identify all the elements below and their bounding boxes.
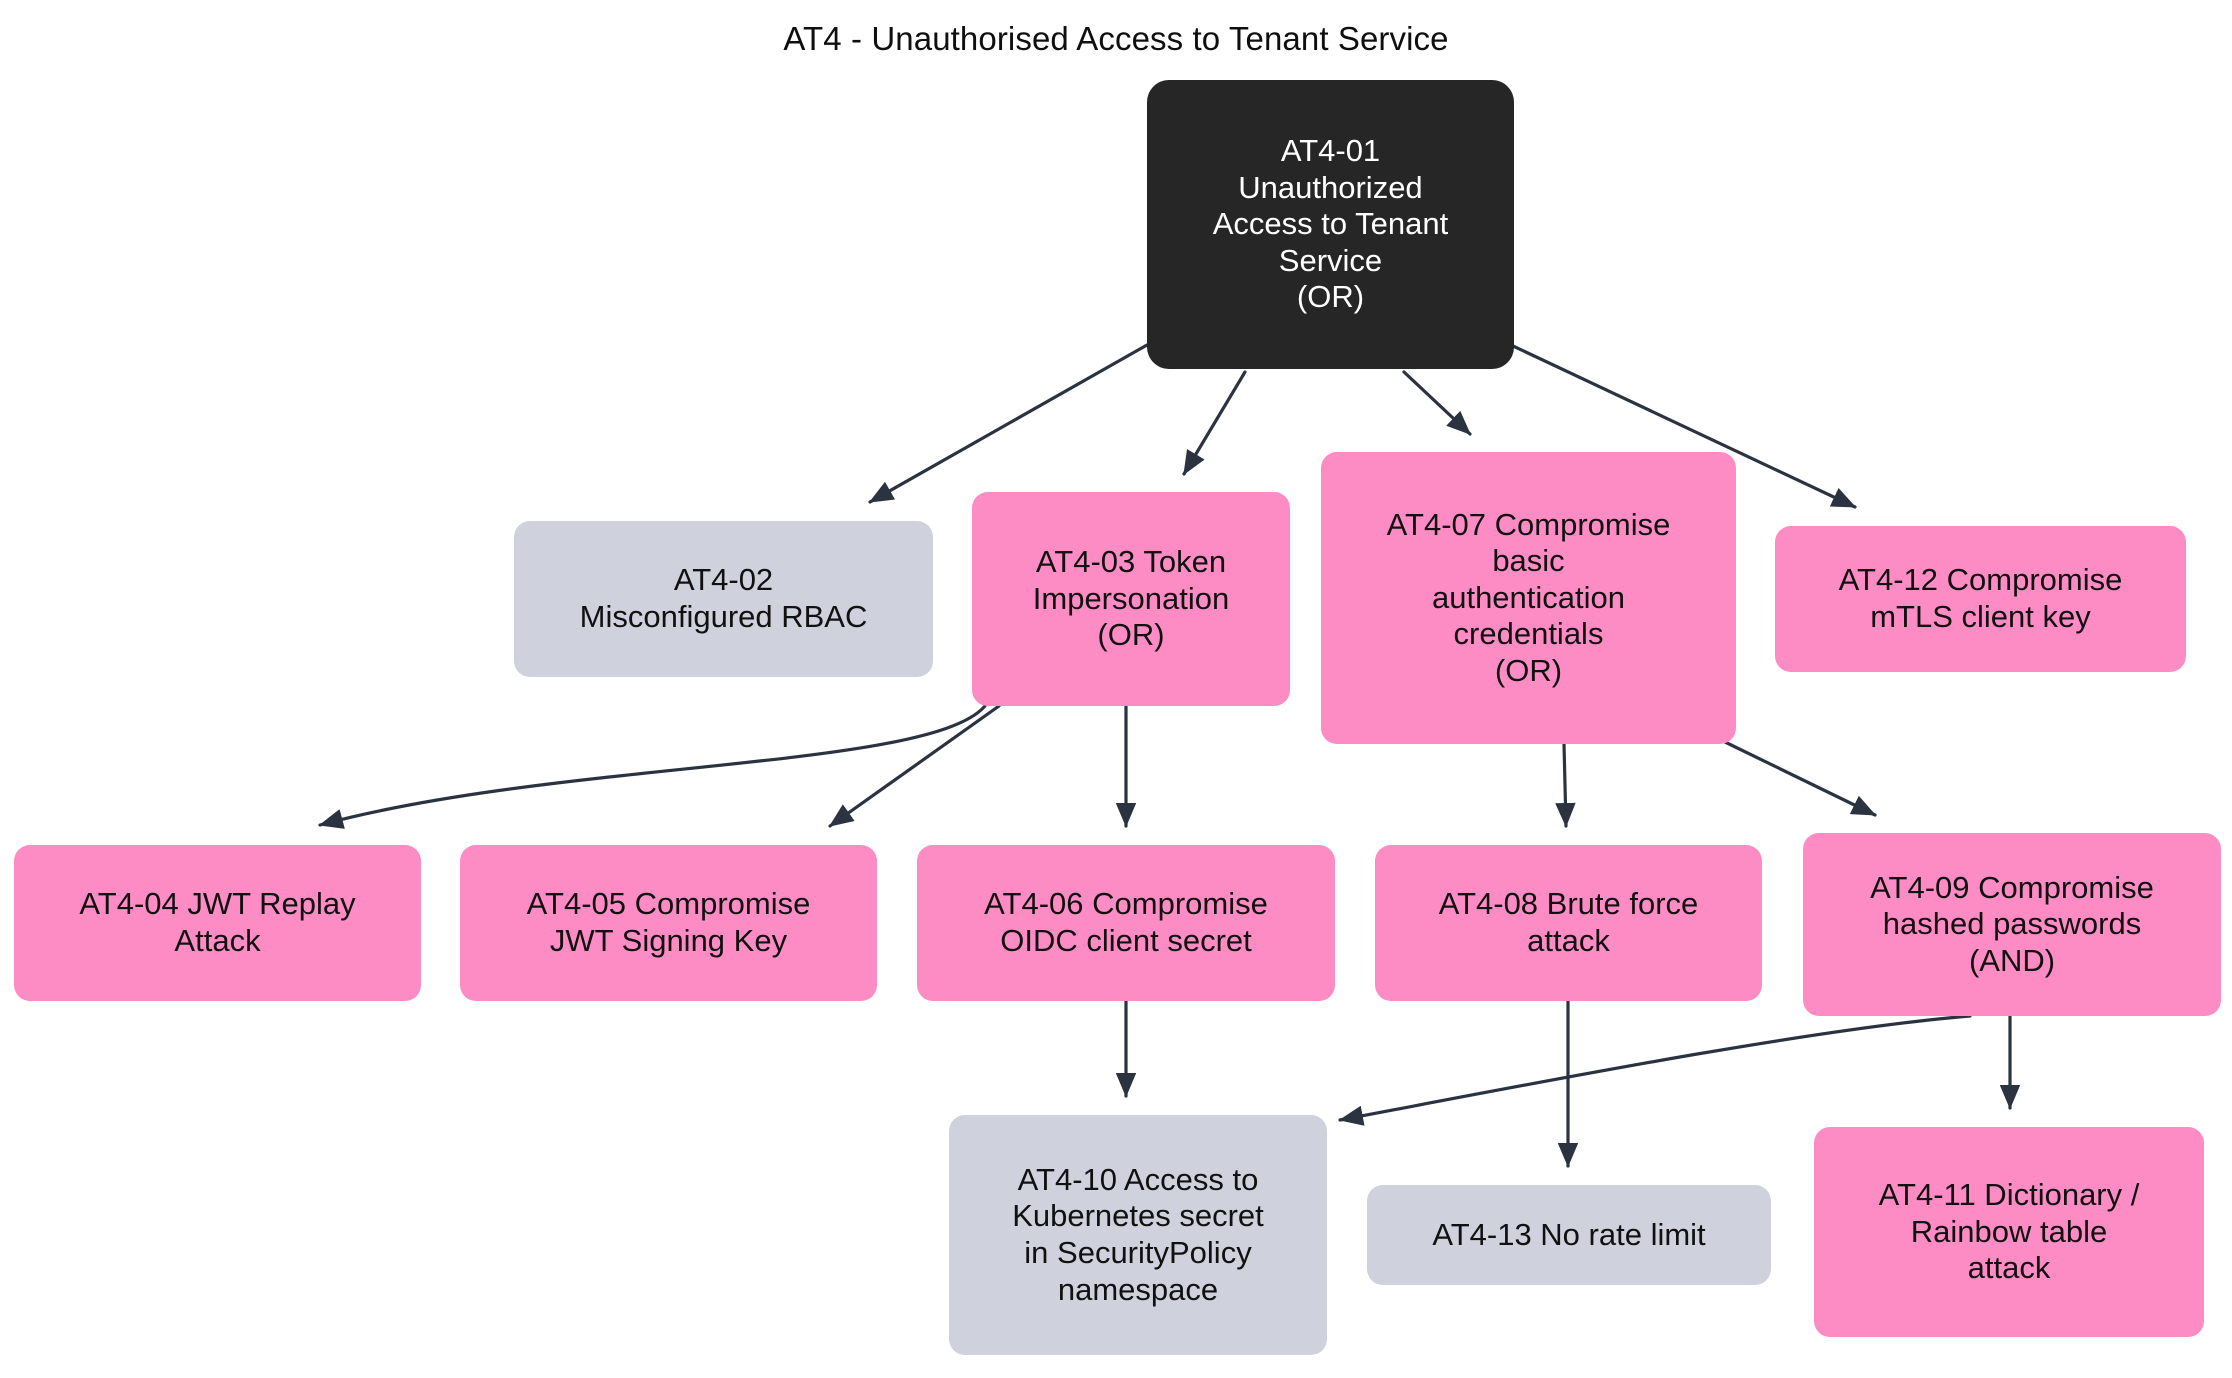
attack-tree-diagram: AT4 - Unauthorised Access to Tenant Serv… (0, 0, 2232, 1378)
edge-at4-03-to-at4-05 (830, 706, 999, 826)
node-at4-13[interactable]: AT4-13 No rate limit (1367, 1185, 1771, 1285)
diagram-title: AT4 - Unauthorised Access to Tenant Serv… (0, 20, 2232, 58)
node-at4-12[interactable]: AT4-12 Compromise mTLS client key (1775, 526, 2186, 672)
edge-at4-09-to-at4-10 (1340, 1016, 1970, 1120)
edge-at4-07-to-at4-08 (1564, 744, 1566, 826)
edge-at4-03-to-at4-04 (320, 706, 985, 825)
edge-at4-01-to-at4-03 (1184, 372, 1245, 474)
node-at4-02[interactable]: AT4-02 Misconfigured RBAC (514, 521, 933, 677)
node-at4-03[interactable]: AT4-03 Token Impersonation (OR) (972, 492, 1290, 706)
node-at4-09[interactable]: AT4-09 Compromise hashed passwords (AND) (1803, 833, 2221, 1016)
node-at4-11[interactable]: AT4-11 Dictionary / Rainbow table attack (1814, 1127, 2204, 1337)
node-at4-06[interactable]: AT4-06 Compromise OIDC client secret (917, 845, 1335, 1001)
node-at4-01[interactable]: AT4-01 Unauthorized Access to Tenant Ser… (1147, 80, 1514, 369)
node-at4-10[interactable]: AT4-10 Access to Kubernetes secret in Se… (949, 1115, 1327, 1355)
node-at4-04[interactable]: AT4-04 JWT Replay Attack (14, 845, 421, 1001)
node-at4-05[interactable]: AT4-05 Compromise JWT Signing Key (460, 845, 877, 1001)
node-at4-08[interactable]: AT4-08 Brute force attack (1375, 845, 1762, 1001)
edge-at4-01-to-at4-02 (870, 345, 1147, 502)
edge-at4-01-to-at4-07 (1404, 372, 1470, 434)
node-at4-07[interactable]: AT4-07 Compromise basic authentication c… (1321, 452, 1736, 744)
edge-at4-07-to-at4-09 (1725, 742, 1875, 815)
